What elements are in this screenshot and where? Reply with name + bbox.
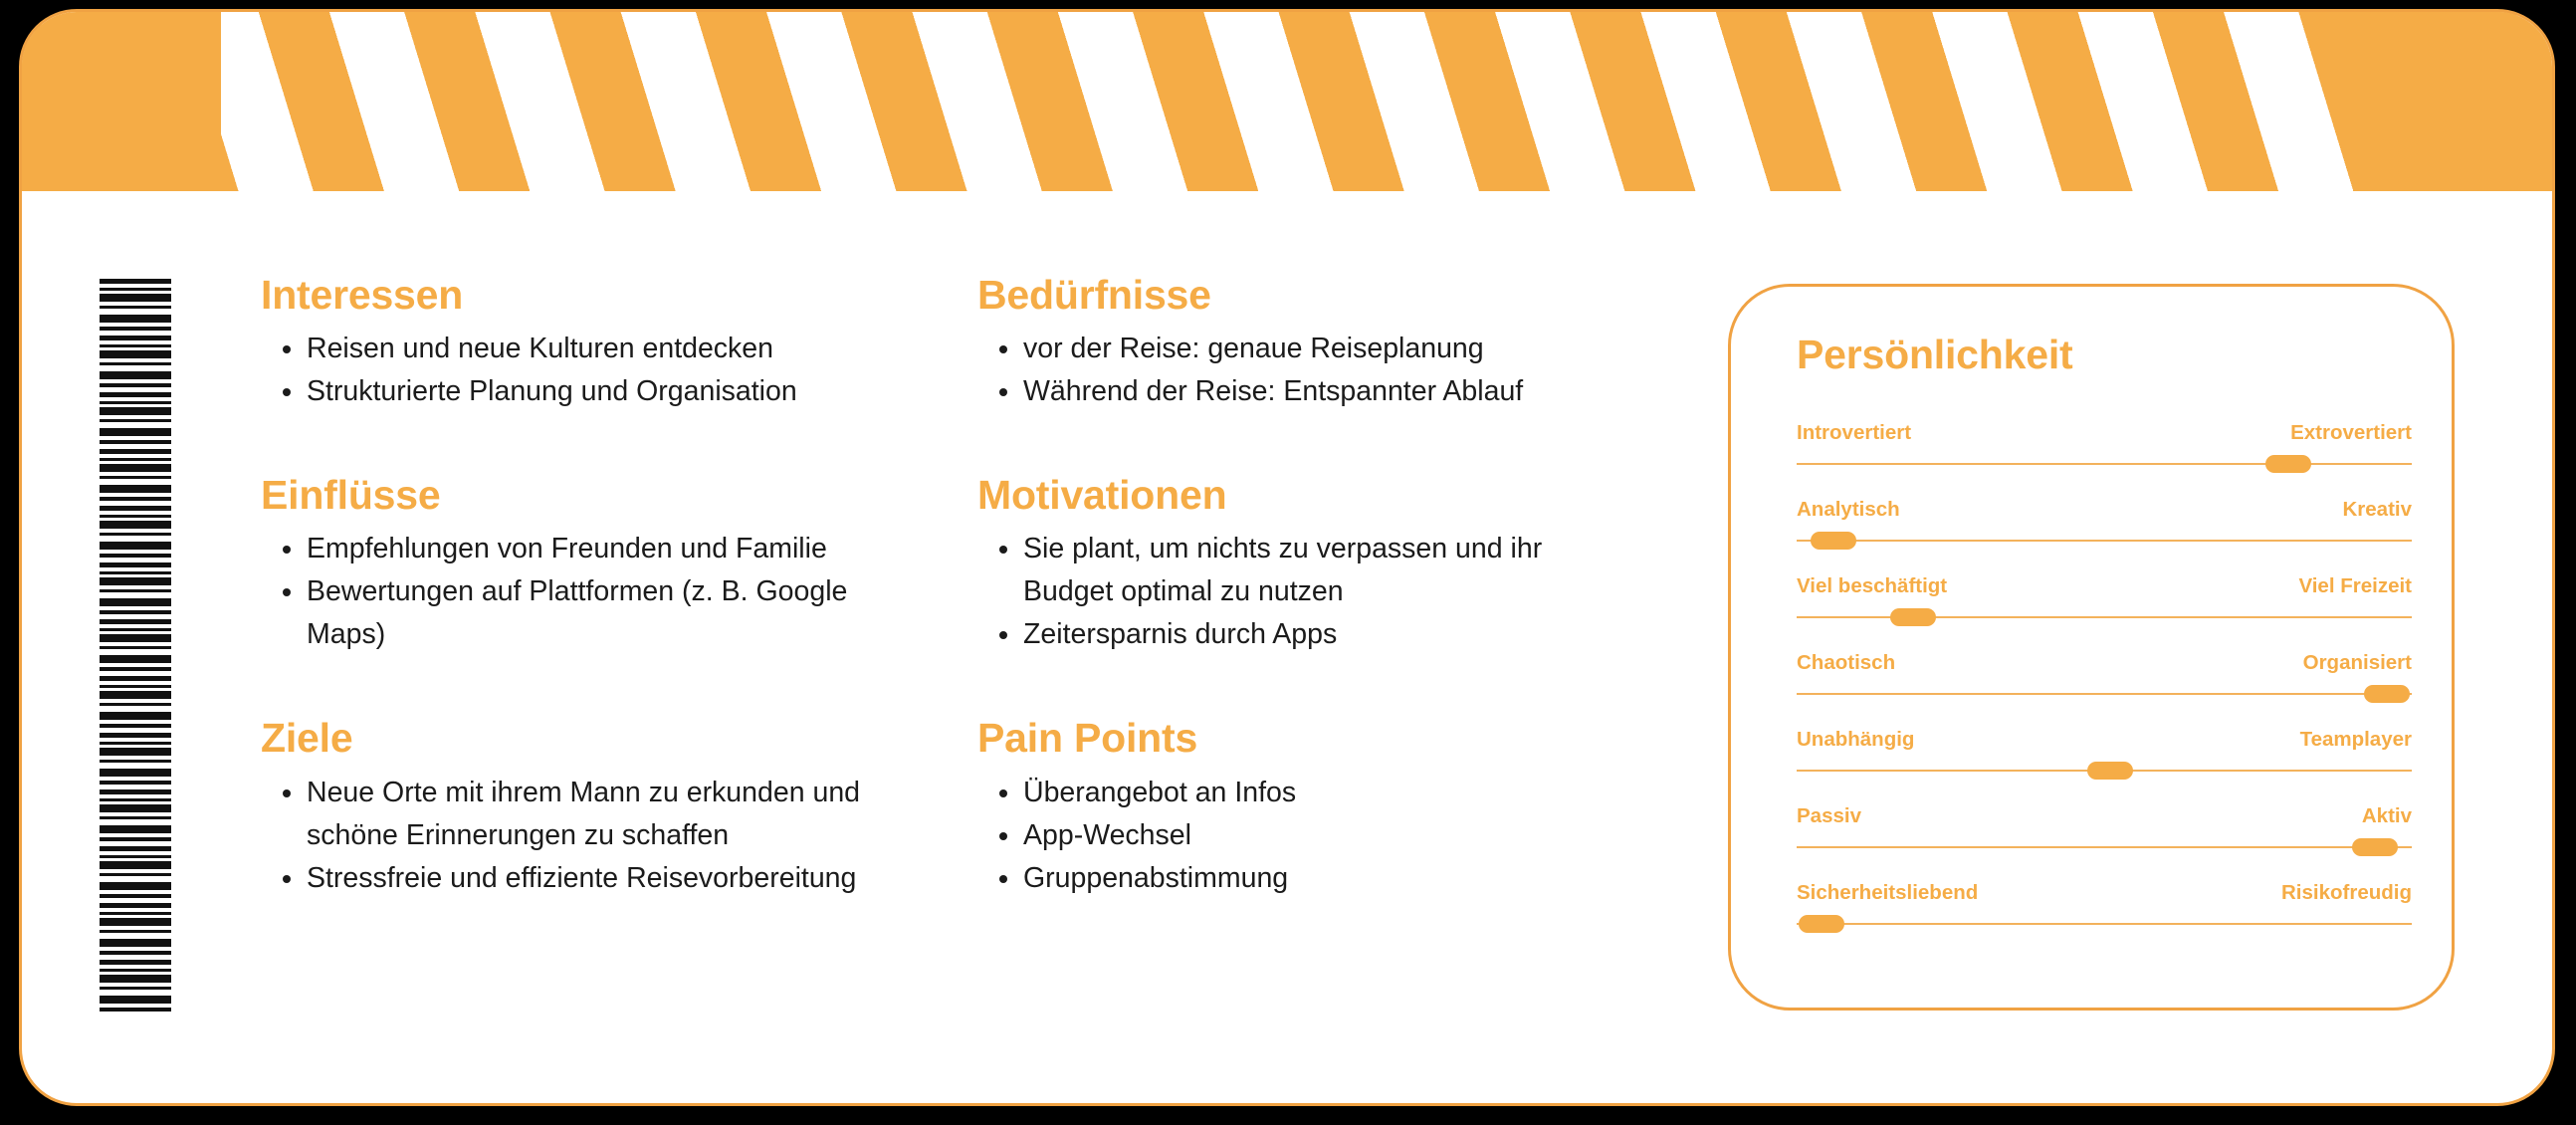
section-title-ziele: Ziele [261, 714, 868, 763]
list-ziele: Neue Orte mit ihrem Mann zu erkunden und… [261, 772, 868, 900]
trait-slider[interactable] [1797, 532, 2412, 550]
section-interessen: Interessen Reisen und neue Kulturen entd… [261, 271, 868, 413]
list-pain-points: Überangebot an Infos App-Wechsel Gruppen… [977, 772, 1614, 900]
banner-cap-right [2353, 12, 2552, 191]
section-pain-points: Pain Points Überangebot an Infos App-Wec… [977, 714, 1614, 899]
trait-knob[interactable] [2352, 838, 2398, 856]
trait-rail [1797, 923, 2412, 925]
list-motivationen: Sie plant, um nichts zu verpassen und ih… [977, 528, 1614, 656]
list-item: Während der Reise: Entspannter Ablauf [1023, 370, 1614, 413]
list-item: Bewertungen auf Plattformen (z. B. Googl… [307, 570, 868, 656]
section-title-motivationen: Motivationen [977, 471, 1614, 520]
trait-left-label: Introvertiert [1797, 421, 1911, 445]
trait-rail [1797, 540, 2412, 542]
trait-vielbeschaeftigt-vielfreizeit: Viel beschäftigt Viel Freizeit [1797, 574, 2412, 626]
personality-trait-list: Introvertiert Extrovertiert Analytisch K… [1797, 421, 2412, 958]
trait-passiv-aktiv: Passiv Aktiv [1797, 804, 2412, 856]
list-item: Gruppenabstimmung [1023, 857, 1614, 900]
personality-panel: Persönlichkeit Introvertiert Extrovertie… [1728, 284, 2455, 1011]
trait-analytisch-kreativ: Analytisch Kreativ [1797, 498, 2412, 550]
trait-rail [1797, 616, 2412, 618]
trait-right-label: Viel Freizeit [2298, 574, 2412, 598]
trait-left-label: Chaotisch [1797, 651, 1895, 675]
list-beduerfnisse: vor der Reise: genaue Reiseplanung Währe… [977, 328, 1614, 413]
trait-left-label: Viel beschäftigt [1797, 574, 1947, 598]
trait-left-label: Passiv [1797, 804, 1861, 828]
persona-card: Interessen Reisen und neue Kulturen entd… [19, 9, 2555, 1106]
list-item: Strukturierte Planung und Organisation [307, 370, 868, 413]
trait-knob[interactable] [2087, 762, 2133, 780]
trait-labels: Sicherheitsliebend Risikofreudig [1797, 881, 2412, 905]
trait-labels: Analytisch Kreativ [1797, 498, 2412, 522]
list-item: App-Wechsel [1023, 814, 1614, 857]
section-beduerfnisse: Bedürfnisse vor der Reise: genaue Reisep… [977, 271, 1614, 413]
trait-introvertiert-extrovertiert: Introvertiert Extrovertiert [1797, 421, 2412, 473]
section-ziele: Ziele Neue Orte mit ihrem Mann zu erkund… [261, 714, 868, 899]
trait-knob[interactable] [2265, 455, 2311, 473]
trait-slider[interactable] [1797, 455, 2412, 473]
trait-left-label: Sicherheitsliebend [1797, 881, 1978, 905]
trait-left-label: Analytisch [1797, 498, 1900, 522]
trait-right-label: Teamplayer [2300, 728, 2412, 752]
trait-labels: Passiv Aktiv [1797, 804, 2412, 828]
list-item: Neue Orte mit ihrem Mann zu erkunden und… [307, 772, 868, 857]
striped-banner [22, 12, 2552, 191]
trait-rail [1797, 463, 2412, 465]
trait-slider[interactable] [1797, 915, 2412, 933]
section-title-pain-points: Pain Points [977, 714, 1614, 763]
list-item: Zeitersparnis durch Apps [1023, 613, 1614, 656]
list-item: Sie plant, um nichts zu verpassen und ih… [1023, 528, 1614, 613]
trait-labels: Unabhängig Teamplayer [1797, 728, 2412, 752]
trait-sicherheitsliebend-risikofreudig: Sicherheitsliebend Risikofreudig [1797, 881, 2412, 933]
list-item: Stressfreie und effiziente Reisevorberei… [307, 857, 868, 900]
trait-labels: Viel beschäftigt Viel Freizeit [1797, 574, 2412, 598]
list-item: Empfehlungen von Freunden und Familie [307, 528, 868, 570]
trait-knob[interactable] [1890, 608, 1936, 626]
trait-rail [1797, 846, 2412, 848]
personality-title: Persönlichkeit [1797, 332, 2072, 378]
list-einfluesse: Empfehlungen von Freunden und Familie Be… [261, 528, 868, 656]
list-item: Überangebot an Infos [1023, 772, 1614, 814]
section-title-einfluesse: Einflüsse [261, 471, 868, 520]
section-einfluesse: Einflüsse Empfehlungen von Freunden und … [261, 471, 868, 656]
trait-chaotisch-organisiert: Chaotisch Organisiert [1797, 651, 2412, 703]
trait-slider[interactable] [1797, 685, 2412, 703]
trait-right-label: Extrovertiert [2290, 421, 2412, 445]
trait-left-label: Unabhängig [1797, 728, 1914, 752]
column-left: Interessen Reisen und neue Kulturen entd… [261, 271, 868, 900]
section-title-beduerfnisse: Bedürfnisse [977, 271, 1614, 320]
trait-rail [1797, 693, 2412, 695]
section-title-interessen: Interessen [261, 271, 868, 320]
list-item: Reisen und neue Kulturen entdecken [307, 328, 868, 370]
trait-right-label: Kreativ [2342, 498, 2412, 522]
trait-right-label: Aktiv [2362, 804, 2412, 828]
trait-slider[interactable] [1797, 762, 2412, 780]
list-interessen: Reisen und neue Kulturen entdecken Struk… [261, 328, 868, 413]
trait-slider[interactable] [1797, 838, 2412, 856]
trait-right-label: Organisiert [2303, 651, 2412, 675]
trait-right-label: Risikofreudig [2281, 881, 2412, 905]
trait-labels: Chaotisch Organisiert [1797, 651, 2412, 675]
column-middle: Bedürfnisse vor der Reise: genaue Reisep… [977, 271, 1614, 900]
trait-unabhaengig-teamplayer: Unabhängig Teamplayer [1797, 728, 2412, 780]
trait-knob[interactable] [2364, 685, 2410, 703]
trait-slider[interactable] [1797, 608, 2412, 626]
list-item: vor der Reise: genaue Reiseplanung [1023, 328, 1614, 370]
trait-knob[interactable] [1811, 532, 1856, 550]
trait-labels: Introvertiert Extrovertiert [1797, 421, 2412, 445]
trait-knob[interactable] [1799, 915, 1844, 933]
banner-cap-left [22, 12, 221, 191]
section-motivationen: Motivationen Sie plant, um nichts zu ver… [977, 471, 1614, 656]
